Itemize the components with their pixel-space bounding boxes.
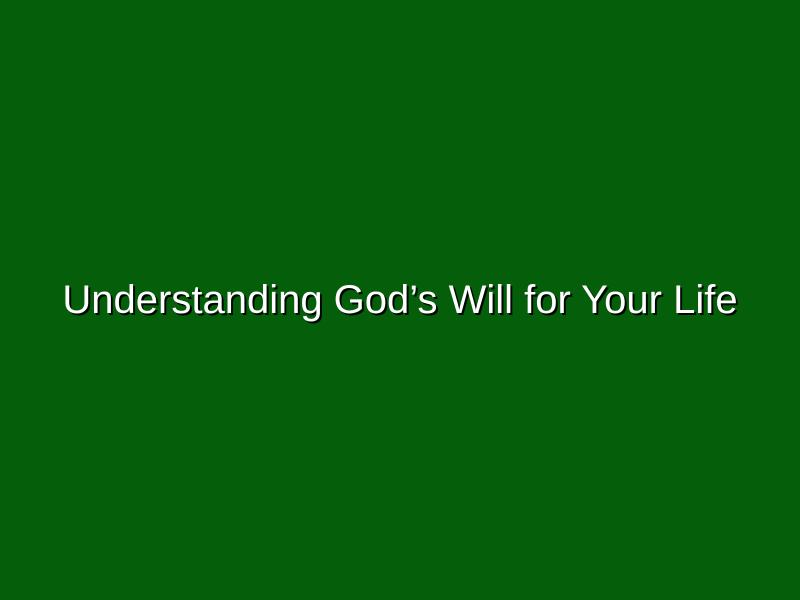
page-title: Understanding God’s Will for Your Life xyxy=(0,276,800,324)
title-slide: Understanding God’s Will for Your Life xyxy=(0,0,800,600)
title-block: Understanding God’s Will for Your Life xyxy=(0,276,800,324)
